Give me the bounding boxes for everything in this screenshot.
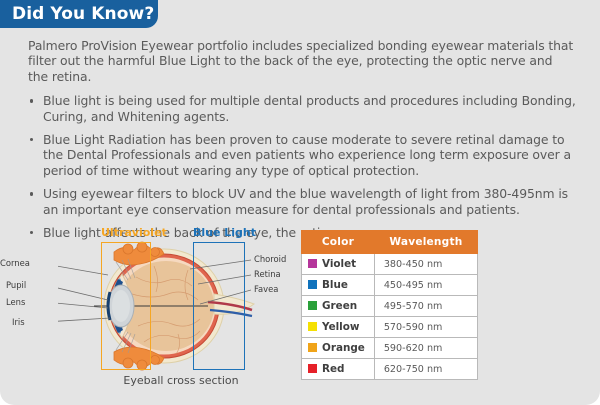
- ultraviolet-band: [101, 242, 151, 370]
- color-name: Red: [322, 363, 345, 375]
- bullet-list: Blue light is being used for multiple de…: [28, 93, 576, 240]
- ultraviolet-label: Ultraviolet: [101, 226, 167, 239]
- list-item: Blue Light Radiation has been proven to …: [28, 132, 576, 178]
- color-name: Yellow: [322, 321, 359, 333]
- list-item-text: Using eyewear filters to block UV and th…: [43, 186, 568, 216]
- page-title: Did You Know?: [12, 6, 154, 23]
- lower-section: Ultraviolet Blue Light Cornea Pupil Lens…: [0, 222, 600, 405]
- body-content: Palmero ProVision Eyewear portfolio incl…: [28, 38, 576, 248]
- intro-paragraph: Palmero ProVision Eyewear portfolio incl…: [28, 38, 576, 84]
- diagram-caption: Eyeball cross section: [96, 374, 266, 387]
- anatomy-label-iris: Iris: [12, 317, 25, 327]
- eye-diagram: Ultraviolet Blue Light Cornea Pupil Lens…: [58, 222, 290, 400]
- cell-color: Green: [302, 296, 375, 317]
- color-name: Violet: [322, 258, 356, 270]
- cell-wavelength: 620-750 nm: [374, 359, 477, 380]
- table-row: Orange 590-620 nm: [302, 338, 478, 359]
- anatomy-label-retina: Retina: [254, 269, 281, 279]
- color-swatch-icon: [308, 301, 317, 310]
- cell-wavelength: 495-570 nm: [374, 296, 477, 317]
- color-swatch-icon: [308, 364, 317, 373]
- anatomy-label-favea: Favea: [254, 284, 278, 294]
- cell-wavelength: 450-495 nm: [374, 275, 477, 296]
- eyeball-cross-section-illustration: [58, 222, 290, 374]
- table-row: Red 620-750 nm: [302, 359, 478, 380]
- bullet-dot-icon: [30, 138, 33, 141]
- bullet-dot-icon: [30, 192, 33, 195]
- list-item: Using eyewear filters to block UV and th…: [28, 186, 576, 217]
- color-swatch-icon: [308, 259, 317, 268]
- info-card: Did You Know? Palmero ProVision Eyewear …: [0, 0, 600, 405]
- cell-color: Yellow: [302, 317, 375, 338]
- table-row: Violet 380-450 nm: [302, 254, 478, 275]
- cell-color: Violet: [302, 254, 375, 275]
- anatomy-label-pupil: Pupil: [6, 280, 26, 290]
- header-tab: Did You Know?: [0, 0, 158, 28]
- cell-color: Orange: [302, 338, 375, 359]
- color-swatch-icon: [308, 343, 317, 352]
- color-name: Blue: [322, 279, 348, 291]
- color-name: Orange: [322, 342, 365, 354]
- blue-light-band: [193, 242, 245, 370]
- blue-light-label: Blue Light: [193, 226, 256, 239]
- table-row: Yellow 570-590 nm: [302, 317, 478, 338]
- cell-wavelength: 570-590 nm: [374, 317, 477, 338]
- wavelength-table: Color Wavelength Violet 380-450 nm Blue …: [301, 230, 478, 380]
- anatomy-label-choroid: Choroid: [254, 254, 286, 264]
- bullet-dot-icon: [30, 99, 33, 102]
- table-header-row: Color Wavelength: [302, 231, 478, 254]
- anatomy-label-cornea: Cornea: [0, 258, 30, 268]
- cell-color: Blue: [302, 275, 375, 296]
- cell-color: Red: [302, 359, 375, 380]
- list-item: Blue light is being used for multiple de…: [28, 93, 576, 124]
- table-row: Green 495-570 nm: [302, 296, 478, 317]
- cell-wavelength: 590-620 nm: [374, 338, 477, 359]
- table-row: Blue 450-495 nm: [302, 275, 478, 296]
- color-swatch-icon: [308, 322, 317, 331]
- cell-wavelength: 380-450 nm: [374, 254, 477, 275]
- list-item-text: Blue light is being used for multiple de…: [43, 93, 576, 123]
- color-swatch-icon: [308, 280, 317, 289]
- list-item-text: Blue Light Radiation has been proven to …: [43, 132, 571, 178]
- column-header-wavelength: Wavelength: [374, 231, 477, 254]
- color-name: Green: [322, 300, 357, 312]
- anatomy-label-lens: Lens: [6, 297, 25, 307]
- column-header-color: Color: [302, 231, 375, 254]
